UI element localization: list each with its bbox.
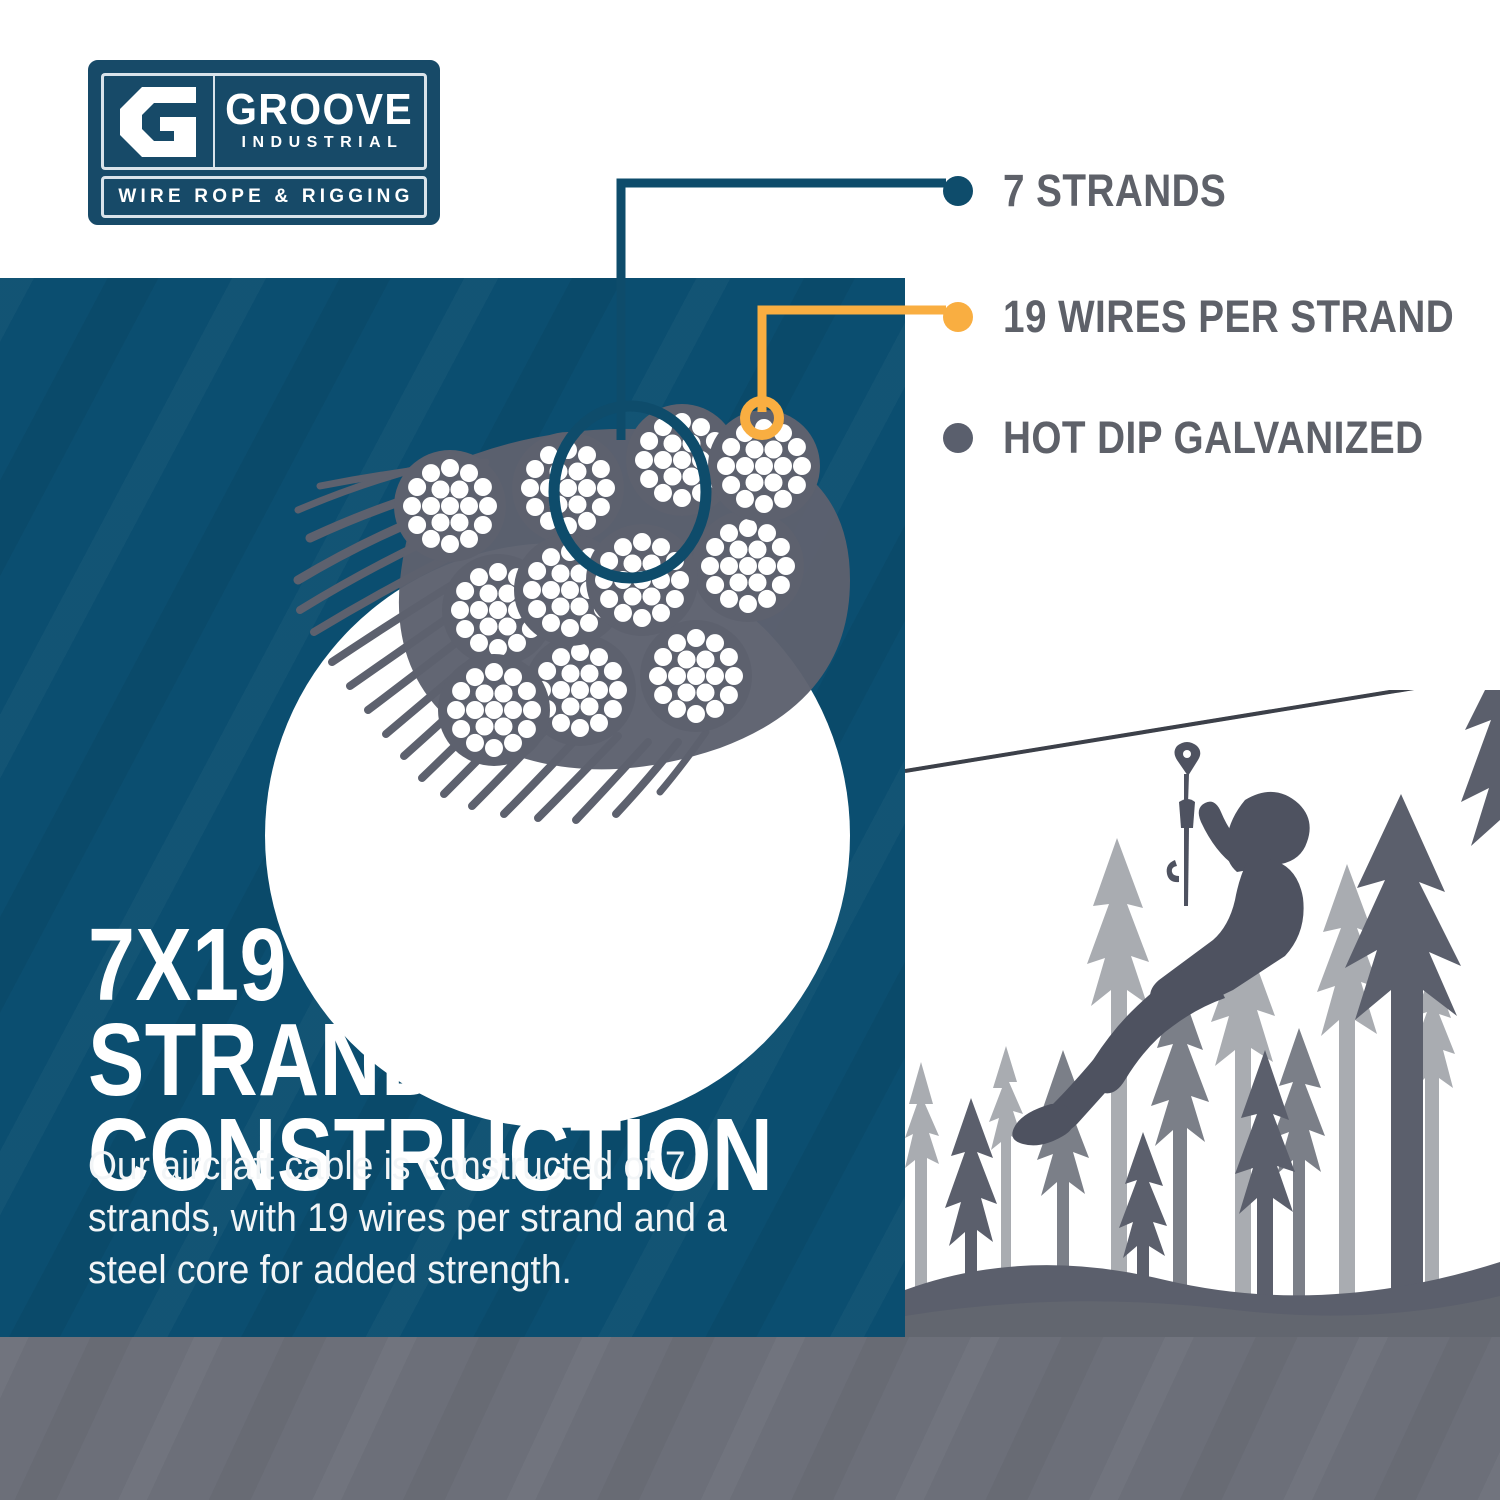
page-title-line-1: 7X19 FLEXIBLE — [88, 918, 736, 1013]
callout-label: HOT DIP GALVANIZED — [1003, 415, 1424, 460]
brand-logo[interactable]: GROOVE INDUSTRIAL WIRE ROPE & RIGGING — [88, 60, 440, 225]
amber-dot-icon — [943, 302, 973, 332]
callout-label: 19 WIRES PER STRAND — [1003, 294, 1454, 339]
callout-label: 7 STRANDS — [1003, 168, 1226, 213]
logo-tagline-bar: WIRE ROPE & RIGGING — [101, 176, 427, 218]
amber-leader-line — [762, 310, 946, 412]
logo-top-row: GROOVE INDUSTRIAL — [101, 73, 427, 170]
logo-brand-sub: INDUSTRIAL — [236, 134, 404, 152]
logo-wordmark: GROOVE INDUSTRIAL — [213, 73, 427, 170]
infographic-canvas: 7 STRANDS 19 WIRES PER STRAND HOT DIP GA… — [0, 0, 1500, 1500]
gray-dot-icon — [943, 423, 973, 453]
callout-hot-dip-galvanized[interactable]: HOT DIP GALVANIZED — [943, 415, 1492, 460]
callout-19-wires-per-strand[interactable]: 19 WIRES PER STRAND — [943, 294, 1500, 339]
groove-g-monogram-icon — [101, 73, 213, 170]
callout-7-strands[interactable]: 7 STRANDS — [943, 168, 1263, 213]
bottom-gray-band — [0, 1337, 1500, 1500]
body-paragraph: Our aircraft cable is constructed of 7 s… — [88, 1140, 739, 1296]
navy-dot-icon — [943, 176, 973, 206]
logo-tagline: WIRE ROPE & RIGGING — [114, 186, 413, 208]
logo-brand-name: GROOVE — [225, 89, 413, 131]
